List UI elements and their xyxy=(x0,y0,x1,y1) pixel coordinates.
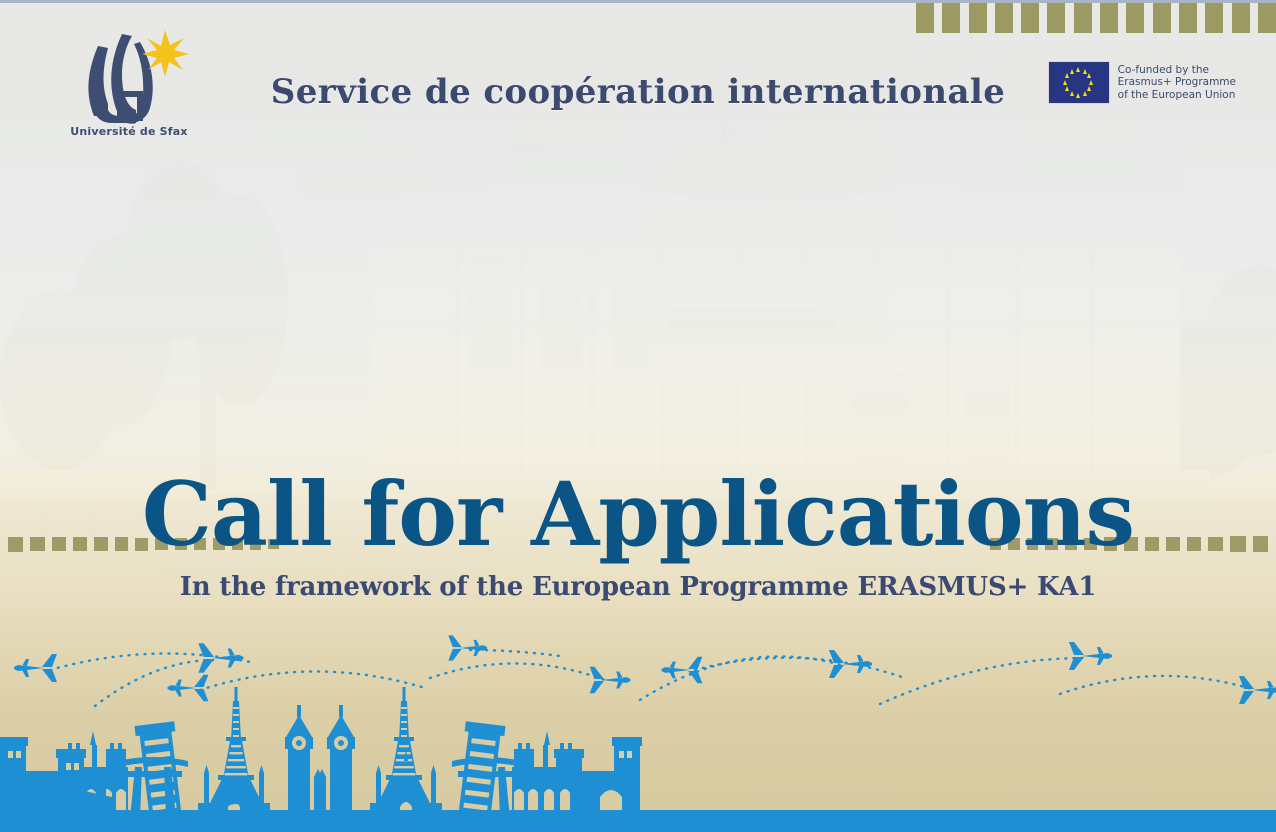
eu-star-icon xyxy=(1070,91,1074,96)
eu-funding-line-1: Co-funded by the xyxy=(1118,64,1236,77)
top-bar-segment xyxy=(1047,3,1065,33)
eu-star-icon xyxy=(1083,91,1087,96)
airplane-icon xyxy=(14,654,57,682)
eu-flag-icon xyxy=(1049,62,1109,103)
ground-bar xyxy=(0,810,1276,832)
eu-funding-text: Co-funded by the Erasmus+ Programme of t… xyxy=(1118,64,1236,102)
flight-path xyxy=(695,658,905,678)
airplane-icon xyxy=(1069,642,1112,670)
eu-star-icon xyxy=(1076,93,1080,98)
eu-star-icon xyxy=(1089,80,1093,85)
top-bar-segment xyxy=(969,3,987,33)
headline: Call for Applications xyxy=(0,470,1276,558)
eu-funding-line-2: Erasmus+ Programme xyxy=(1118,76,1236,89)
eu-star-icon xyxy=(1083,69,1087,74)
top-bar-segment xyxy=(1021,3,1039,33)
top-bar-segment xyxy=(916,3,934,33)
subheadline: In the framework of the European Program… xyxy=(0,572,1276,602)
eu-funding-line-3: of the European Union xyxy=(1118,89,1236,102)
top-bar-segment xyxy=(1074,3,1092,33)
top-bar-decoration xyxy=(916,3,1276,33)
poster-canvas: Université de Sfax Service de coopératio… xyxy=(0,0,1276,832)
top-bar-segment xyxy=(1126,3,1144,33)
flight-path xyxy=(430,663,605,680)
airplane-icon xyxy=(829,650,872,678)
eu-co-funding-logo: Co-funded by the Erasmus+ Programme of t… xyxy=(1049,62,1236,103)
top-bar-segment xyxy=(1232,3,1250,33)
eu-star-icon xyxy=(1065,86,1069,91)
top-bar-segment xyxy=(1205,3,1223,33)
top-bar-segment xyxy=(1258,3,1276,33)
top-bar-segment xyxy=(1153,3,1171,33)
flight-path xyxy=(50,654,255,670)
eu-star-icon xyxy=(1087,86,1091,91)
eu-star-icon xyxy=(1087,73,1091,78)
eu-star-icon xyxy=(1065,73,1069,78)
top-bar-segment xyxy=(1179,3,1197,33)
flight-path xyxy=(470,650,560,656)
airplane-icon xyxy=(448,635,487,660)
eu-star-icon xyxy=(1063,80,1067,85)
eu-star-icon xyxy=(1076,67,1080,72)
top-bar-segment xyxy=(995,3,1013,33)
top-bar-segment xyxy=(1100,3,1118,33)
airplane-icon xyxy=(198,643,243,672)
top-bar-segment xyxy=(942,3,960,33)
logo-caption: Université de Sfax xyxy=(64,125,194,138)
eu-star-icon xyxy=(1070,69,1074,74)
